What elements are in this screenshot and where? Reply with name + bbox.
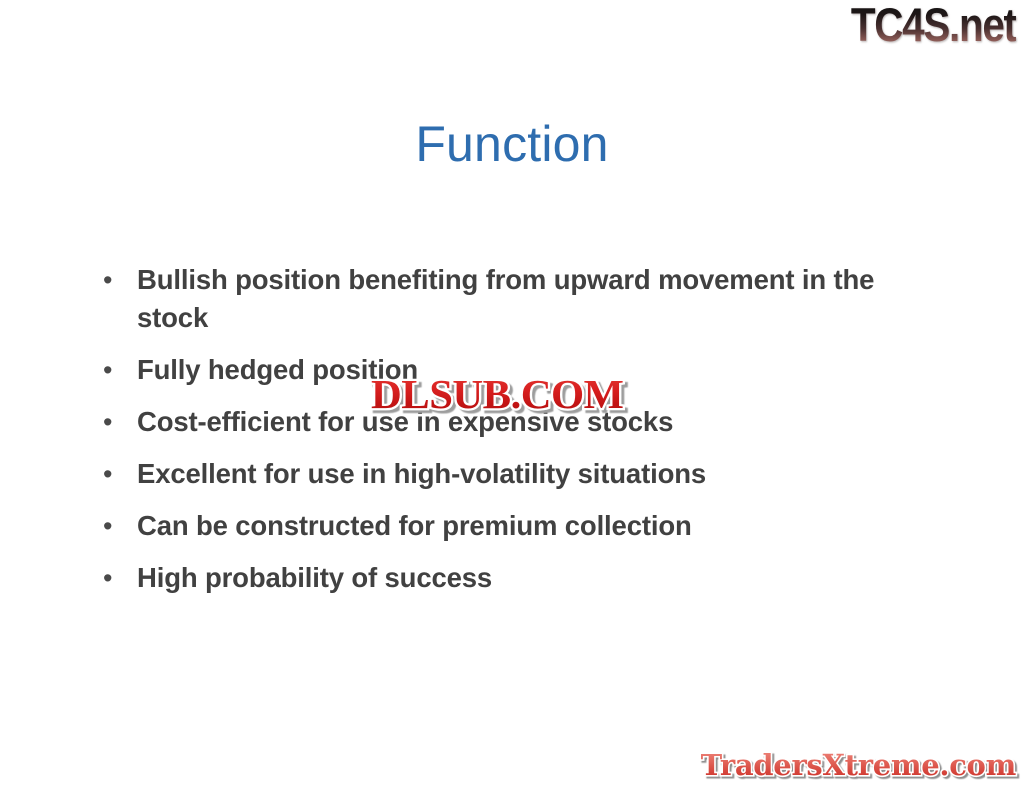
presentation-slide: Function • Bullish position benefiting f… — [0, 0, 1024, 791]
list-item: • Bullish position benefiting from upwar… — [96, 261, 956, 337]
list-item: • Can be constructed for premium collect… — [96, 507, 956, 545]
list-item-label: Excellent for use in high-volatility sit… — [137, 455, 927, 493]
watermark-tc4s: TC4S.net — [851, 1, 1016, 49]
watermark-dlsub-fill: DLSUB.COM — [371, 371, 623, 417]
watermark-tradersxtreme-fill: TradersXtreme.com — [701, 748, 1016, 782]
bullet-point-icon: • — [96, 455, 137, 493]
list-item-label: Can be constructed for premium collectio… — [137, 507, 927, 545]
watermark-tradersxtreme: TradersXtreme.com TradersXtreme.com Trad… — [701, 748, 1016, 782]
bullet-point-icon: • — [96, 507, 137, 545]
bullet-list: • Bullish position benefiting from upwar… — [96, 261, 956, 597]
list-item: • Excellent for use in high-volatility s… — [96, 455, 956, 493]
bullet-point-icon: • — [96, 559, 137, 597]
page-title: Function — [0, 118, 1024, 171]
list-item-label: High probability of success — [137, 559, 927, 597]
bullet-point-icon: • — [96, 351, 137, 389]
bullet-point-icon: • — [96, 403, 137, 441]
watermark-dlsub: DLSUB.COM DLSUB.COM DLSUB.COM — [371, 372, 623, 416]
bullet-point-icon: • — [96, 261, 137, 299]
list-item-label: Bullish position benefiting from upward … — [137, 261, 927, 337]
list-item: • High probability of success — [96, 559, 956, 597]
